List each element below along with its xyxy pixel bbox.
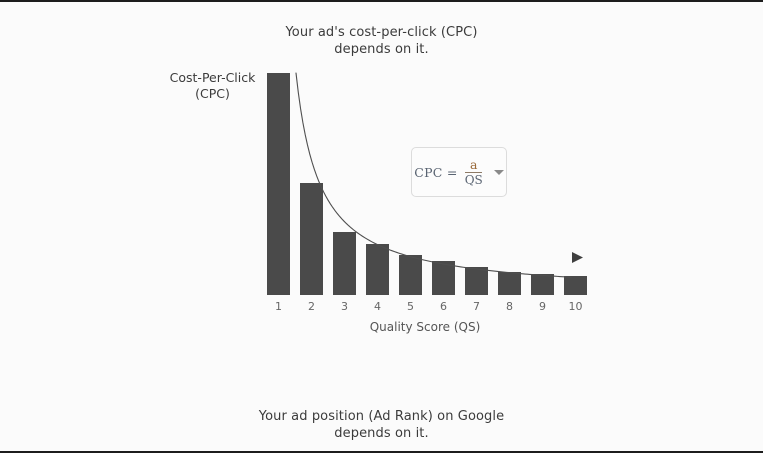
x-tick-label: 4 xyxy=(366,300,390,313)
x-tick-label: 3 xyxy=(333,300,357,313)
decay-curve xyxy=(0,2,763,453)
bar xyxy=(267,73,290,295)
bar xyxy=(300,183,323,295)
bar xyxy=(366,244,389,295)
formula-content: CPC = a QS xyxy=(414,158,504,187)
x-axis-label: Quality Score (QS) xyxy=(300,320,550,334)
y-axis-label: Cost-Per-Click (CPC) xyxy=(160,70,265,102)
x-tick-label: 10 xyxy=(564,300,588,313)
x-tick-label: 6 xyxy=(432,300,456,313)
screenshot-root: Your ad's cost-per-click (CPC) depends o… xyxy=(0,0,763,453)
arrow-head-icon xyxy=(572,252,583,263)
x-tick-label: 8 xyxy=(498,300,522,313)
fraction-numerator: a xyxy=(467,158,480,171)
bar xyxy=(465,267,488,295)
x-tick-label: 9 xyxy=(531,300,555,313)
bar xyxy=(432,261,455,295)
bar xyxy=(531,274,554,295)
chevron-down-icon[interactable] xyxy=(494,170,504,175)
bottom-caption: Your ad position (Ad Rank) on Google dep… xyxy=(0,408,763,442)
bar xyxy=(498,272,521,295)
x-tick-label: 5 xyxy=(399,300,423,313)
bar xyxy=(564,276,587,295)
formula-left-side: CPC = xyxy=(414,165,458,180)
cpc-quality-score-chart: Cost-Per-Click (CPC) 12345678910 Quality… xyxy=(0,2,763,453)
fraction-denominator: QS xyxy=(463,174,485,187)
x-tick-label: 7 xyxy=(465,300,489,313)
bar xyxy=(333,232,356,295)
x-tick-label: 1 xyxy=(267,300,291,313)
x-tick-label: 2 xyxy=(300,300,324,313)
bar xyxy=(399,255,422,295)
fraction: a QS xyxy=(463,158,485,187)
formula-dropdown[interactable]: CPC = a QS xyxy=(411,147,507,197)
